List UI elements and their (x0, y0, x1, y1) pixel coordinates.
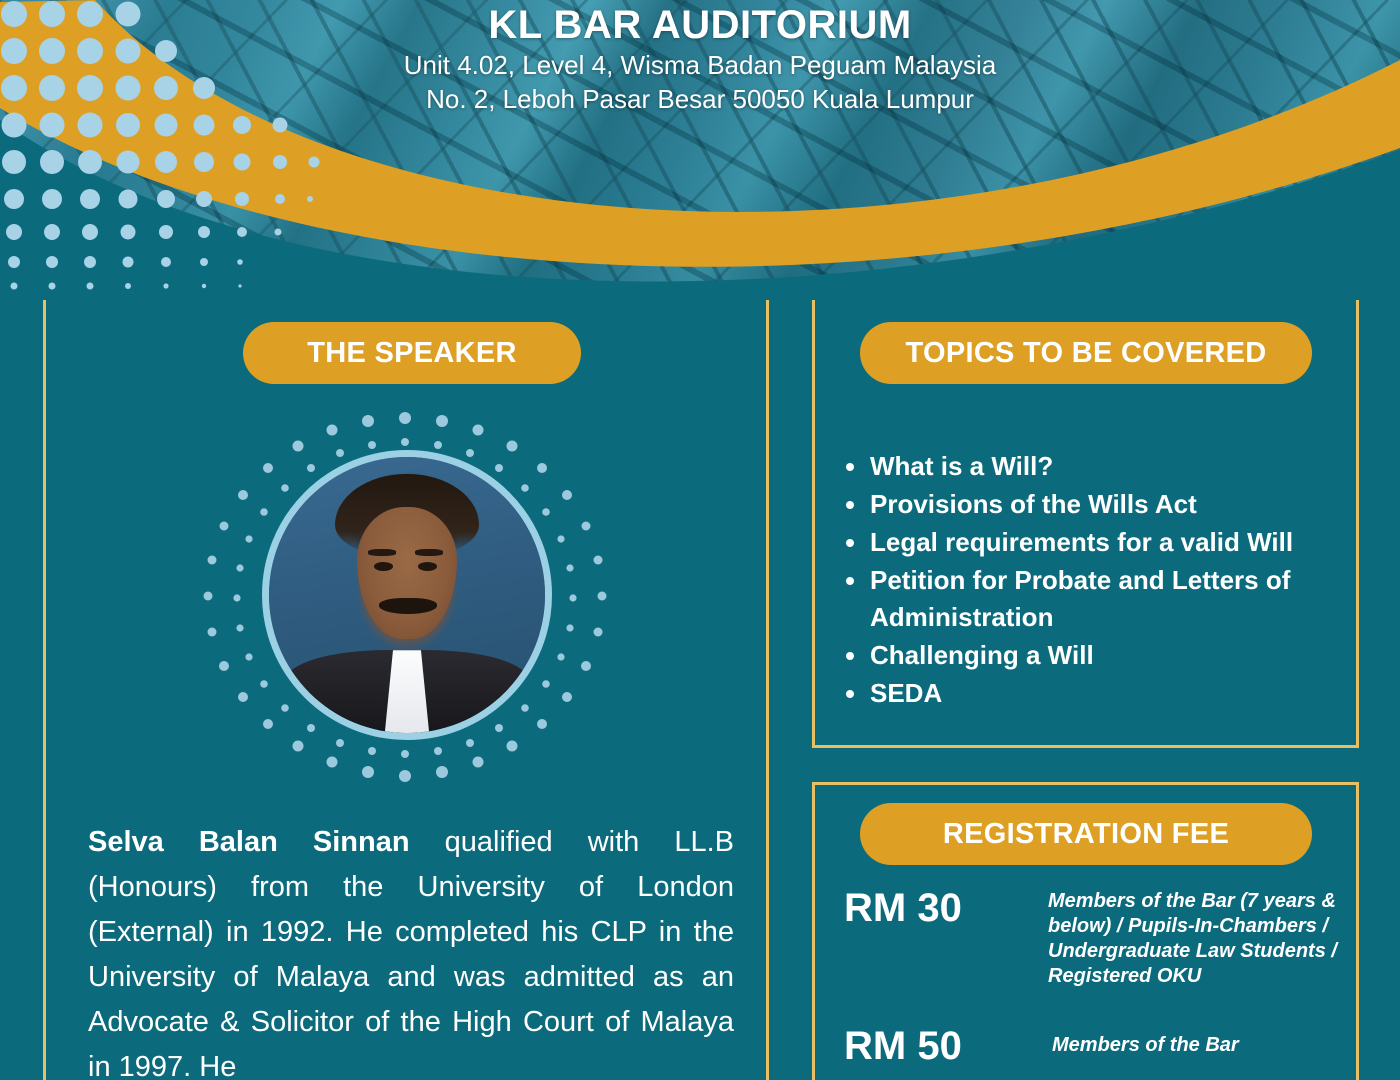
topics-section-badge: TOPICS TO BE COVERED (860, 322, 1312, 384)
topics-section-badge-label: TOPICS TO BE COVERED (905, 337, 1266, 370)
speaker-biography: Selva Balan Sinnan qualified with LL.B (… (88, 820, 734, 1080)
fee-row: RM 50 Members of the Bar (838, 1023, 1348, 1069)
speaker-section-badge: THE SPEAKER (243, 322, 581, 384)
fee-amount: RM 50 (838, 1023, 1048, 1069)
fee-description: Members of the Bar (1048, 1023, 1239, 1058)
speaker-portrait-image (269, 457, 545, 733)
poster-root: KL BAR AUDITORIUM Unit 4.02, Level 4, Wi… (0, 0, 1400, 1080)
topic-item: Legal requirements for a valid Will (838, 524, 1348, 561)
venue-title: KL BAR AUDITORIUM (0, 2, 1400, 48)
topics-list: What is a Will? Provisions of the Wills … (838, 448, 1348, 713)
fee-description: Members of the Bar (7 years & below) / P… (1048, 885, 1348, 989)
speaker-name: Selva Balan Sinnan (88, 826, 410, 858)
header-band: KL BAR AUDITORIUM Unit 4.02, Level 4, Wi… (0, 0, 1400, 300)
topic-item: Challenging a Will (838, 637, 1348, 674)
venue-address-line-2: No. 2, Leboh Pasar Besar 50050 Kuala Lum… (0, 82, 1400, 116)
fee-amount: RM 30 (838, 885, 1048, 931)
topic-item: SEDA (838, 675, 1348, 712)
topic-item: Provisions of the Wills Act (838, 486, 1348, 523)
speaker-bio-text: qualified with LL.B (Honours) from the U… (88, 826, 734, 1080)
fee-rows: RM 30 Members of the Bar (7 years & belo… (838, 885, 1348, 1080)
speaker-photo-wrapper (198, 408, 612, 792)
registration-fee-badge: REGISTRATION FEE (860, 803, 1312, 865)
speaker-avatar (262, 450, 552, 740)
header-text-block: KL BAR AUDITORIUM Unit 4.02, Level 4, Wi… (0, 0, 1400, 116)
registration-fee-badge-label: REGISTRATION FEE (943, 818, 1229, 851)
speaker-section-badge-label: THE SPEAKER (307, 337, 517, 370)
venue-address-line-1: Unit 4.02, Level 4, Wisma Badan Peguam M… (0, 48, 1400, 82)
fee-row: RM 30 Members of the Bar (7 years & belo… (838, 885, 1348, 989)
topic-item: What is a Will? (838, 448, 1348, 485)
topic-item: Petition for Probate and Letters of Admi… (838, 562, 1348, 636)
